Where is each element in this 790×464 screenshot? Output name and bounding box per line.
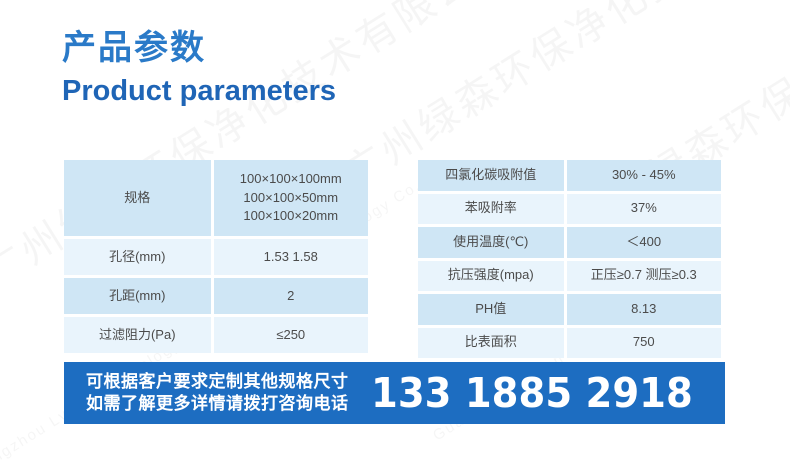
spec-label: 孔径(mm): [64, 238, 212, 277]
spec-value: 8.13: [565, 293, 721, 327]
contact-phone-number[interactable]: 133 1885 2918: [371, 369, 693, 417]
spec-value: ＜400: [565, 226, 721, 260]
spec-label: 过滤阻力(Pa): [64, 316, 212, 354]
spec-value: 30% - 45%: [565, 160, 721, 192]
spec-value-line: 100×100×100mm: [218, 170, 365, 189]
table-row: 抗压强度(mpa) 正压≥0.7 测压≥0.3: [418, 259, 721, 293]
table-row: 使用温度(℃) ＜400: [418, 226, 721, 260]
spec-value: ≤250: [212, 316, 368, 354]
spec-label: 孔距(mm): [64, 277, 212, 316]
spec-value-line: 100×100×20mm: [218, 207, 365, 226]
table-row: 四氯化碳吸附值 30% - 45%: [418, 160, 721, 192]
table-row: 苯吸附率 37%: [418, 192, 721, 226]
spec-label: 比表面积: [418, 326, 565, 358]
spec-value: 37%: [565, 192, 721, 226]
table-row: PH值 8.13: [418, 293, 721, 327]
table-row: 规格 100×100×100mm 100×100×50mm 100×100×20…: [64, 160, 368, 238]
spec-label: 使用温度(℃): [418, 226, 565, 260]
spec-value: 2: [212, 277, 368, 316]
spec-label: 四氯化碳吸附值: [418, 160, 565, 192]
spec-table-right: 四氯化碳吸附值 30% - 45% 苯吸附率 37% 使用温度(℃) ＜400 …: [418, 160, 721, 358]
spec-value: 1.53 1.58: [212, 238, 368, 277]
banner-message-line1: 可根据客户要求定制其他规格尺寸: [86, 371, 349, 393]
table-row: 过滤阻力(Pa) ≤250: [64, 316, 368, 354]
spec-label: PH值: [418, 293, 565, 327]
spec-value: 750: [565, 326, 721, 358]
spec-value: 正压≥0.7 测压≥0.3: [565, 259, 721, 293]
spec-label: 苯吸附率: [418, 192, 565, 226]
table-row: 孔径(mm) 1.53 1.58: [64, 238, 368, 277]
page-title-block: 产品参数 Product parameters: [62, 28, 336, 108]
spec-label: 规格: [64, 160, 212, 238]
page-title-en: Product parameters: [62, 74, 336, 108]
spec-value-line: 100×100×50mm: [218, 189, 365, 208]
table-row: 比表面积 750: [418, 326, 721, 358]
contact-banner: 可根据客户要求定制其他规格尺寸 如需了解更多详情请拨打咨询电话 133 1885…: [64, 362, 725, 424]
banner-message: 可根据客户要求定制其他规格尺寸 如需了解更多详情请拨打咨询电话: [86, 371, 349, 416]
spec-table-left: 规格 100×100×100mm 100×100×50mm 100×100×20…: [64, 160, 368, 353]
table-row: 孔距(mm) 2: [64, 277, 368, 316]
spec-value: 100×100×100mm 100×100×50mm 100×100×20mm: [212, 160, 368, 238]
banner-message-line2: 如需了解更多详情请拨打咨询电话: [86, 393, 349, 415]
spec-label: 抗压强度(mpa): [418, 259, 565, 293]
page-title-cn: 产品参数: [62, 28, 336, 68]
